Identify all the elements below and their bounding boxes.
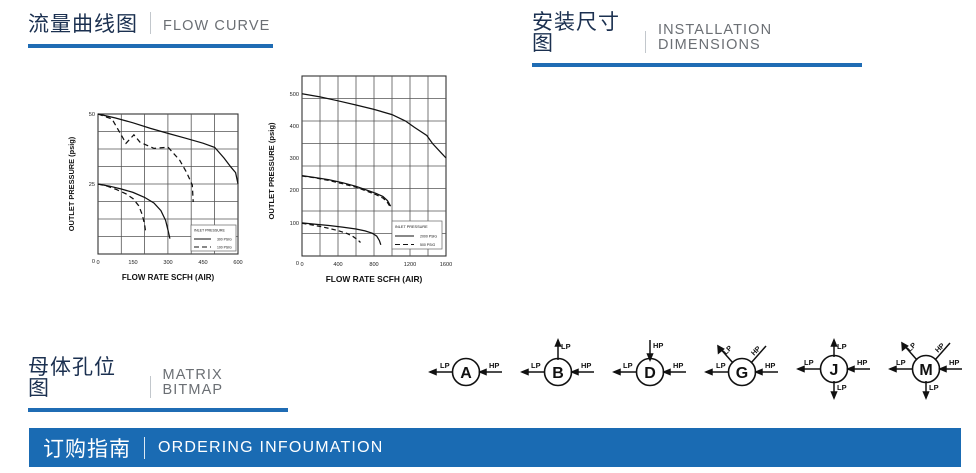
- port-label-left: LP: [896, 358, 906, 367]
- svg-text:0: 0: [92, 259, 95, 265]
- x-axis-label-low: FLOW RATE SCFH (AIR): [122, 273, 215, 282]
- port-label-left: LP: [623, 361, 633, 370]
- page-root: 流量曲线图 FLOW CURVE 安装尺寸图 INSTALLATION DIME…: [0, 0, 976, 473]
- port-label-top: HP: [653, 341, 663, 350]
- banner-title-cn: 订购指南: [43, 433, 131, 463]
- port-label-top-right: HP: [749, 344, 763, 358]
- svg-text:1600: 1600: [440, 262, 452, 268]
- port-arrow-left: [614, 370, 620, 375]
- svg-text:200: 200: [290, 188, 299, 194]
- port-letter-b: B: [552, 365, 564, 382]
- y-axis-label-low: OUTLET PRESSURE (psig): [67, 136, 76, 231]
- svg-text:0: 0: [296, 261, 299, 267]
- chart-svg-high: 500 400 300 200 100 0 0 400 800 1200 160…: [258, 66, 463, 290]
- legend-low: INLET PRESSURE 300 PSIG 100 PSIG: [191, 225, 236, 251]
- port-diagram-j[interactable]: J LP HP LP LP: [788, 338, 880, 400]
- port-arrow-left: [890, 367, 896, 372]
- port-label-top-left: LP: [721, 343, 734, 356]
- banner-title-en: ORDERING INFOUMATION: [158, 439, 383, 457]
- port-diagram-g[interactable]: G LP HP LP HP: [696, 338, 788, 400]
- svg-text:300: 300: [290, 156, 299, 162]
- svg-text:1200: 1200: [404, 262, 416, 268]
- chart-svg-low: 50 25 0 0 150 300 450 600 OUTLET PRESSUR…: [62, 96, 262, 288]
- svg-text:500: 500: [290, 92, 299, 98]
- ordering-information-banner: 订购指南 ORDERING INFOUMATION: [29, 428, 961, 467]
- port-label-left: LP: [804, 358, 814, 367]
- svg-text:300: 300: [163, 260, 172, 266]
- x-axis-label-high: FLOW RATE SCFH (AIR): [326, 274, 423, 284]
- banner-divider: [144, 437, 145, 459]
- section-title-cn-matrix-bitmap: 母体孔位图: [28, 357, 150, 399]
- port-label-bottom: LP: [837, 383, 847, 392]
- port-label-right: HP: [949, 358, 959, 367]
- port-diagram-a[interactable]: A LP HP: [420, 338, 512, 400]
- svg-text:100 PSIG: 100 PSIG: [217, 246, 232, 250]
- port-letter-g: G: [736, 365, 748, 382]
- svg-text:400: 400: [333, 262, 342, 268]
- port-label-right: HP: [857, 358, 867, 367]
- port-diagram-b[interactable]: B LP HP LP: [512, 338, 604, 400]
- port-letter-d: D: [644, 365, 656, 382]
- y-tick-labels: 50 25 0: [89, 112, 95, 265]
- port-arrow-left: [430, 370, 436, 375]
- port-arrow-bottom: [832, 392, 837, 398]
- port-arrow-right: [572, 370, 578, 375]
- series-line-25psig-300psig: [98, 184, 170, 239]
- svg-text:INLET PRESSURE: INLET PRESSURE: [194, 229, 225, 233]
- svg-text:150: 150: [128, 260, 137, 266]
- port-arrow-right: [848, 367, 854, 372]
- section-title-en-matrix-bitmap: MATRIX BITMAP: [151, 368, 288, 399]
- svg-text:2000 PSIG: 2000 PSIG: [420, 235, 437, 239]
- port-label-bottom: LP: [929, 383, 939, 392]
- svg-text:25: 25: [89, 182, 95, 188]
- series-line-250psig-2000psig: [302, 176, 391, 207]
- section-underline-flow-curve: [28, 44, 273, 48]
- port-diagram-m[interactable]: M LP HP LP HP LP: [880, 338, 972, 400]
- port-letter-j: J: [830, 362, 839, 379]
- series-line-25psig-100psig: [98, 184, 146, 233]
- port-arrow-right: [480, 370, 486, 375]
- port-arrow-right: [664, 370, 670, 375]
- y-tick-labels: 500 400 300 200 100 0: [290, 92, 299, 267]
- series-line-250psig-500psig: [302, 176, 390, 206]
- port-arrow-bottom: [924, 392, 929, 398]
- port-arrow-left: [522, 370, 528, 375]
- port-label-right: HP: [489, 361, 499, 370]
- x-tick-labels: 0 400 800 1200 1600: [300, 262, 452, 268]
- port-arrow-left: [706, 370, 712, 375]
- svg-text:300 PSIG: 300 PSIG: [217, 238, 232, 242]
- svg-text:0: 0: [96, 260, 99, 266]
- svg-text:50: 50: [89, 112, 95, 118]
- port-arrow-top: [832, 340, 837, 346]
- chart-flow-curve-high: 500 400 300 200 100 0 0 400 800 1200 160…: [258, 66, 463, 290]
- svg-text:600: 600: [233, 260, 242, 266]
- port-letter-a: A: [460, 365, 472, 382]
- svg-text:450: 450: [198, 260, 207, 266]
- svg-text:0: 0: [300, 262, 303, 268]
- section-header-flow-curve: 流量曲线图 FLOW CURVE: [28, 12, 273, 48]
- port-label-top-right: HP: [933, 341, 947, 355]
- y-axis-label-high: OUTLET PRESSURE (psig): [267, 122, 276, 220]
- section-underline-matrix-bitmap: [28, 408, 288, 412]
- svg-text:800: 800: [369, 262, 378, 268]
- chart-flow-curve-low: 50 25 0 0 150 300 450 600 OUTLET PRESSUR…: [62, 96, 262, 288]
- section-title-cn-installation-dimensions: 安装尺寸图: [532, 12, 645, 54]
- svg-text:500 PSIG: 500 PSIG: [420, 243, 435, 247]
- section-underline-installation-dimensions: [532, 63, 862, 67]
- svg-text:100: 100: [290, 221, 299, 227]
- port-label-left: LP: [440, 361, 450, 370]
- port-label-right: HP: [581, 361, 591, 370]
- section-title-en-installation-dimensions: INSTALLATION DIMENSIONS: [646, 23, 862, 54]
- section-header-matrix-bitmap: 母体孔位图 MATRIX BITMAP: [28, 357, 288, 412]
- port-label-top-left: LP: [905, 340, 918, 353]
- port-arrow-right: [940, 367, 946, 372]
- port-label-right: HP: [765, 361, 775, 370]
- port-label-left: LP: [716, 361, 726, 370]
- section-header-installation-dimensions: 安装尺寸图 INSTALLATION DIMENSIONS: [532, 12, 862, 67]
- port-arrow-top: [556, 340, 561, 346]
- section-title-en-flow-curve: FLOW CURVE: [151, 19, 270, 36]
- port-label-left: LP: [531, 361, 541, 370]
- port-arrow-right: [756, 370, 762, 375]
- section-title-cn-flow-curve: 流量曲线图: [28, 14, 150, 35]
- svg-text:400: 400: [290, 124, 299, 130]
- x-tick-labels: 0 150 300 450 600: [96, 260, 242, 266]
- port-letter-m: M: [919, 362, 932, 379]
- port-arrow-left: [798, 367, 804, 372]
- legend-high: INLET PRESSURE 2000 PSIG 500 PSIG: [392, 221, 442, 249]
- port-diagram-d[interactable]: D LP HP HP: [604, 338, 696, 400]
- port-label-top: LP: [561, 342, 571, 351]
- port-label-right: HP: [673, 361, 683, 370]
- port-label-top: LP: [837, 342, 847, 351]
- port-diagram-row: A LP HP B: [420, 338, 976, 400]
- svg-text:INLET PRESSURE: INLET PRESSURE: [395, 225, 428, 229]
